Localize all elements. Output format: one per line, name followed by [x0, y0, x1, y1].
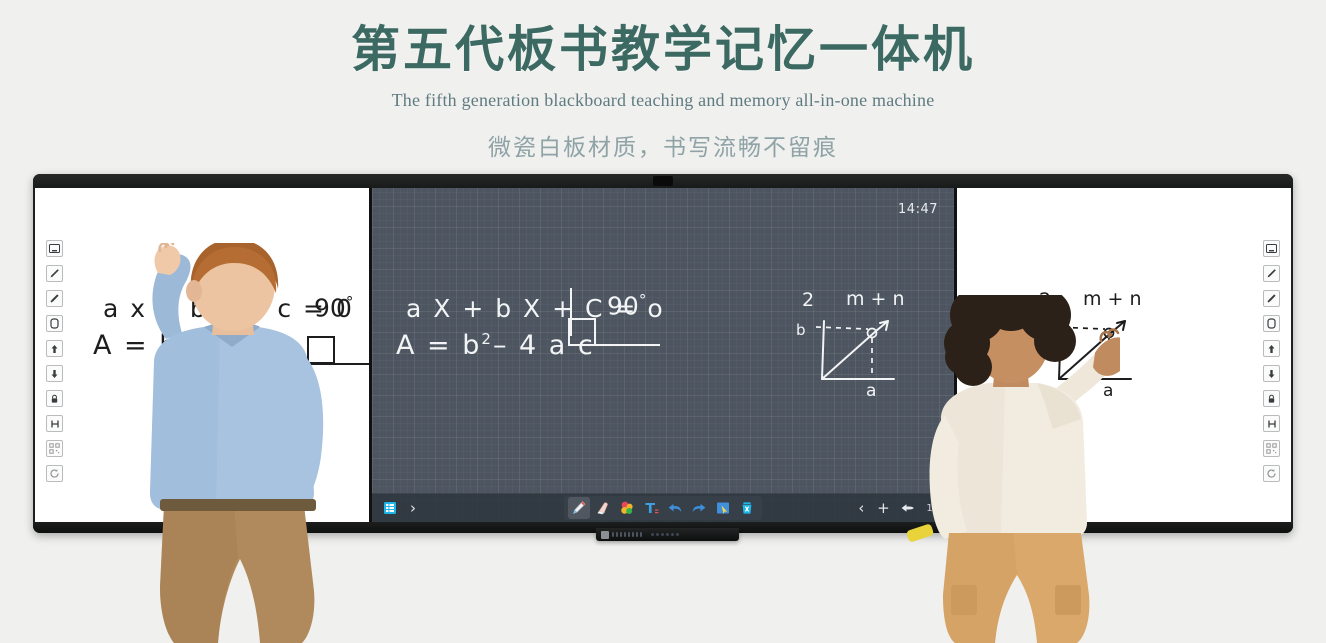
center-interactive-screen[interactable]: 14:47 a X + b X + C = o A = b2– 4 a c 90… — [369, 188, 957, 522]
control-panel-icon — [601, 531, 609, 539]
page-title: 第五代板书教学记忆一体机 — [0, 22, 1326, 77]
control-dot — [612, 532, 614, 537]
center-right-angle-diagram — [570, 288, 670, 358]
whiteboard-right-panel[interactable]: 2 m + n b a — [957, 188, 1291, 522]
right-rail — [1263, 240, 1280, 482]
sidebar-item-eraser[interactable] — [1263, 315, 1280, 332]
redo-tool[interactable] — [688, 497, 710, 519]
page-add-button[interactable]: + — [874, 501, 892, 516]
whiteboard-left-right-angle-diagram — [307, 330, 369, 375]
sidebar-item-eraser[interactable] — [46, 315, 63, 332]
control-port — [661, 533, 664, 536]
sidebar-item-marker[interactable] — [1263, 290, 1280, 307]
sidebar-item-lock[interactable] — [46, 390, 63, 407]
sidebar-item-hdmi[interactable] — [46, 415, 63, 432]
whiteboard-left-panel[interactable]: a x + b x + c = 0 A = b2– 4 a c 90° › — [35, 188, 369, 522]
undo-tool[interactable] — [664, 497, 686, 519]
page-indicator: 1/1 — [922, 503, 948, 514]
all-in-one-machine: a x + b x + c = 0 A = b2– 4 a c 90° › 14… — [33, 174, 1293, 533]
arrow-left-icon[interactable] — [896, 497, 918, 519]
page-prev-button[interactable]: ‹ — [852, 501, 870, 516]
control-dot — [624, 532, 626, 537]
control-dot — [628, 532, 630, 537]
control-dot — [632, 532, 634, 537]
whiteboard-left-angle-label: 90° — [314, 293, 353, 322]
exponent-2: 2 — [178, 330, 190, 348]
control-port — [651, 533, 654, 536]
sidebar-item-scroll-up[interactable] — [46, 340, 63, 357]
list-menu-icon[interactable] — [379, 497, 401, 519]
control-panel-buttons[interactable] — [612, 532, 642, 537]
chevron-right-icon[interactable]: › — [404, 501, 422, 516]
subtitle-chinese: 微瓷白板材质，书写流畅不留痕 — [0, 128, 1326, 162]
sidebar-item-scroll-down[interactable] — [46, 365, 63, 382]
sidebar-item-marker[interactable] — [46, 290, 63, 307]
toolbar-left-group: › — [372, 497, 422, 519]
control-panel-ports — [651, 533, 679, 536]
pen-tool[interactable] — [568, 497, 590, 519]
select-tool[interactable] — [712, 497, 734, 519]
sidebar-item-sync[interactable] — [1263, 465, 1280, 482]
eraser-tool[interactable] — [592, 497, 614, 519]
sidebar-item-scroll-down[interactable] — [1263, 365, 1280, 382]
text-tool[interactable] — [640, 497, 662, 519]
control-dot — [616, 532, 618, 537]
sidebar-item-lock[interactable] — [1263, 390, 1280, 407]
whiteboard-left-equation-1: a x + b x + c = 0 — [103, 294, 354, 323]
sidebar-item-hdmi[interactable] — [1263, 415, 1280, 432]
control-port — [656, 533, 659, 536]
whiteboard-right-triangle-diagram: 2 m + n b a — [1039, 293, 1157, 408]
control-port — [676, 533, 679, 536]
degree-symbol: ° — [346, 293, 354, 311]
sidebar-item-qrcode[interactable] — [46, 440, 63, 457]
sidebar-item-scroll-up[interactable] — [1263, 340, 1280, 357]
sidebar-item-screen[interactable] — [46, 240, 63, 257]
left-rail — [46, 240, 63, 482]
sidebar-item-qrcode[interactable] — [1263, 440, 1280, 457]
color-palette-tool[interactable] — [616, 497, 638, 519]
control-dot — [636, 532, 638, 537]
sidebar-item-sync[interactable] — [46, 465, 63, 482]
page-header: 第五代板书教学记忆一体机 The fifth generation blackb… — [0, 0, 1326, 162]
sidebar-item-pen[interactable] — [46, 265, 63, 282]
control-port — [666, 533, 669, 536]
subtitle-english: The fifth generation blackboard teaching… — [0, 90, 1326, 111]
device-bezel-top — [33, 174, 1293, 188]
sidebar-item-screen[interactable] — [1263, 240, 1280, 257]
whiteboard-left-equation-2: A = b2– 4 a c — [93, 330, 292, 361]
toolbar-nav-group: ‹ + 1/1 — [852, 497, 948, 519]
screen-area: a x + b x + c = 0 A = b2– 4 a c 90° › 14… — [35, 188, 1291, 522]
delete-tool[interactable] — [736, 497, 758, 519]
clock-display: 14:47 — [898, 202, 938, 217]
toolbar-tools-group — [564, 496, 762, 520]
control-dot — [640, 532, 642, 537]
center-triangle-diagram: 2 m + n b a — [802, 293, 920, 408]
camera-icon — [653, 176, 673, 186]
control-port — [671, 533, 674, 536]
bottom-toolbar[interactable]: › — [372, 493, 954, 522]
control-dot — [620, 532, 622, 537]
sidebar-item-pen[interactable] — [1263, 265, 1280, 282]
device-control-panel[interactable] — [596, 528, 739, 541]
